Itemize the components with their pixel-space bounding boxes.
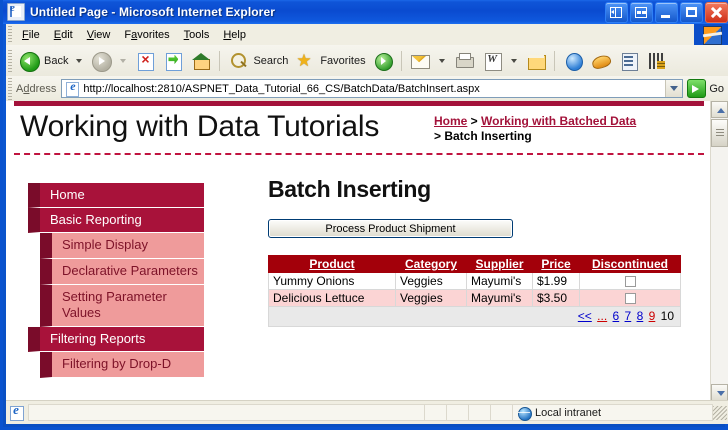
- research-button[interactable]: [615, 48, 643, 74]
- process-product-shipment-button[interactable]: Process Product Shipment: [268, 219, 513, 238]
- menu-item-file[interactable]: File: [15, 27, 47, 43]
- column-header-discontinued[interactable]: Discontinued: [580, 256, 681, 273]
- minimize-button[interactable]: [655, 2, 678, 23]
- sidebar-item-simple-display[interactable]: Simple Display: [40, 233, 204, 259]
- favorites-star-icon: [294, 50, 316, 72]
- stop-icon: [134, 50, 156, 72]
- pager-link-ellipsis[interactable]: ...: [597, 309, 607, 323]
- breadcrumb-link-home[interactable]: Home: [434, 114, 467, 128]
- breadcrumb-separator-2: >: [434, 129, 444, 143]
- mail-chevron-down-icon[interactable]: [439, 59, 445, 63]
- status-pane: [469, 404, 491, 421]
- go-button[interactable]: Go: [683, 78, 728, 99]
- research-icon: [618, 50, 640, 72]
- breadcrumb: Home > Working with Batched Data> Batch …: [434, 114, 704, 144]
- column-header-product[interactable]: Product: [269, 256, 396, 273]
- sidebar-item-basic-reporting[interactable]: Basic Reporting: [28, 208, 204, 233]
- search-button[interactable]: Search: [224, 48, 291, 74]
- print-icon: [453, 50, 475, 72]
- cell-category: Veggies: [396, 273, 467, 290]
- sidebar-item-label: Simple Display: [62, 237, 148, 252]
- sidebar-navigation: Home Basic Reporting Simple Display Decl…: [28, 183, 216, 378]
- toolbar-drag-grip[interactable]: [8, 50, 12, 72]
- table-header-row: Product Category Supplier Price Disconti…: [269, 256, 681, 273]
- sidebar-item-filtering-reports[interactable]: Filtering Reports: [28, 327, 204, 352]
- mail-button[interactable]: [406, 48, 434, 74]
- search-icon: [227, 50, 249, 72]
- browser-window: Untitled Page - Microsoft Internet Explo…: [0, 0, 728, 430]
- page-favicon-icon: [65, 81, 80, 96]
- sidebar-item-label: Setting Parameter Values: [62, 289, 167, 320]
- menu-item-help[interactable]: Help: [216, 27, 253, 43]
- main-content: Batch Inserting Process Product Shipment…: [261, 176, 691, 327]
- status-pane: [425, 404, 447, 421]
- products-grid: Product Category Supplier Price Disconti…: [268, 255, 681, 327]
- globe-icon: [517, 406, 531, 420]
- discontinued-checkbox[interactable]: [625, 293, 636, 304]
- security-zone-label: Local intranet: [535, 407, 601, 419]
- address-bar: Address http://localhost:2810/ASPNET_Dat…: [6, 76, 728, 102]
- cell-product: Yummy Onions: [269, 273, 396, 290]
- site-title: Working with Data Tutorials: [20, 110, 379, 144]
- table-row: Yummy Onions Veggies Mayumi's $1.99: [269, 273, 681, 290]
- page-icon: [7, 3, 25, 21]
- page-banner: Working with Data Tutorials Home > Worki…: [14, 106, 704, 155]
- discuss-button[interactable]: [559, 48, 587, 74]
- print-button[interactable]: [450, 48, 478, 74]
- page-viewport: Working with Data Tutorials Home > Worki…: [6, 101, 728, 401]
- table-row: Delicious Lettuce Veggies Mayumi's $3.50: [269, 290, 681, 307]
- notes-icon: [525, 50, 547, 72]
- pager-current-page: 10: [661, 309, 674, 323]
- column-header-price[interactable]: Price: [533, 256, 580, 273]
- status-pane: [491, 404, 513, 421]
- address-chevron-down-icon[interactable]: [665, 80, 682, 97]
- media-button[interactable]: [369, 48, 397, 74]
- breadcrumb-separator: >: [467, 114, 481, 128]
- sidebar-item-label: Filtering Reports: [50, 331, 145, 346]
- web-page: Working with Data Tutorials Home > Worki…: [6, 101, 711, 401]
- ie-brand-logo: [694, 24, 728, 45]
- breadcrumb-current: Batch Inserting: [444, 129, 531, 143]
- maximize-button[interactable]: [680, 2, 703, 23]
- page-title: Batch Inserting: [268, 176, 691, 203]
- pager-link-8[interactable]: 8: [637, 309, 644, 323]
- cell-price: $3.50: [533, 290, 580, 307]
- edit-word-icon: [481, 50, 503, 72]
- toolbar-separator: [219, 51, 220, 71]
- edit-button[interactable]: [478, 48, 506, 74]
- menu-item-tools[interactable]: Tools: [177, 27, 217, 43]
- forward-icon: [90, 50, 112, 72]
- resize-grip[interactable]: [713, 406, 727, 420]
- security-zone-indicator[interactable]: Local intranet: [513, 404, 713, 421]
- main-toolbar: Back Search Favorites: [6, 45, 728, 77]
- pager-link-9[interactable]: 9: [649, 309, 656, 323]
- discontinued-checkbox[interactable]: [625, 276, 636, 287]
- go-arrow-icon: [687, 79, 706, 98]
- status-page-icon: [9, 405, 24, 420]
- menu-item-favorites[interactable]: Favorites: [117, 27, 176, 43]
- back-icon: [18, 50, 40, 72]
- favorites-button[interactable]: Favorites: [291, 48, 368, 74]
- sidebar-item-label: Basic Reporting: [50, 212, 142, 227]
- pager-row: << ... 6 7 8 9 10: [269, 307, 681, 327]
- sidebar-item-setting-parameter-values[interactable]: Setting Parameter Values: [40, 285, 204, 327]
- title-bar: Untitled Page - Microsoft Internet Explo…: [3, 0, 728, 24]
- status-bar: Local intranet: [6, 400, 728, 424]
- menu-item-view[interactable]: View: [80, 27, 118, 43]
- encoding-icon: [646, 50, 668, 72]
- close-button[interactable]: [705, 2, 728, 23]
- column-header-category[interactable]: Category: [396, 256, 467, 273]
- media-icon: [372, 50, 394, 72]
- address-url-text: http://localhost:2810/ASPNET_Data_Tutori…: [83, 83, 479, 95]
- window-controls: [605, 2, 728, 23]
- sidebar-item-label: Filtering by Drop-D: [62, 356, 171, 371]
- sidebar-item-declarative-parameters[interactable]: Declarative Parameters: [40, 259, 204, 285]
- restore-window-button[interactable]: [630, 2, 653, 23]
- pager-cell: << ... 6 7 8 9 10: [269, 307, 681, 327]
- forward-history-chevron-down-icon[interactable]: [120, 59, 126, 63]
- pager-link-6[interactable]: 6: [613, 309, 620, 323]
- encoding-button[interactable]: [643, 48, 671, 74]
- address-input[interactable]: http://localhost:2810/ASPNET_Data_Tutori…: [61, 79, 683, 98]
- status-message: [28, 404, 425, 421]
- back-button[interactable]: Back: [15, 48, 71, 74]
- edit-chevron-down-icon[interactable]: [511, 59, 517, 63]
- cell-product: Delicious Lettuce: [269, 290, 396, 307]
- back-history-chevron-down-icon[interactable]: [76, 59, 82, 63]
- window-title: Untitled Page - Microsoft Internet Explo…: [30, 5, 275, 19]
- pager-link-first[interactable]: <<: [578, 309, 592, 323]
- cell-supplier: Mayumi's: [467, 290, 533, 307]
- status-pane: [447, 404, 469, 421]
- sidebar-item-filtering-by-dropdown[interactable]: Filtering by Drop-D: [40, 352, 204, 378]
- menu-drag-grip[interactable]: [8, 26, 12, 43]
- home-icon: [190, 50, 212, 72]
- scroll-up-button[interactable]: [711, 101, 728, 118]
- discuss-globe-icon: [562, 50, 584, 72]
- breadcrumb-link-parent[interactable]: Working with Batched Data: [481, 114, 636, 128]
- address-drag-grip[interactable]: [8, 78, 12, 100]
- scrollbar-thumb[interactable]: [711, 119, 728, 147]
- cell-supplier: Mayumi's: [467, 273, 533, 290]
- toolbar-separator: [554, 51, 555, 71]
- toolbar-separator: [401, 51, 402, 71]
- address-label: Address: [16, 83, 56, 95]
- restore-arrows-button[interactable]: [605, 2, 628, 23]
- sidebar-item-label: Declarative Parameters: [62, 263, 198, 278]
- sidebar-item-label: Home: [50, 187, 85, 202]
- mail-icon: [409, 50, 431, 72]
- cell-discontinued: [580, 273, 681, 290]
- messenger-button[interactable]: [587, 48, 615, 74]
- refresh-button[interactable]: [159, 48, 187, 74]
- vertical-scrollbar[interactable]: [710, 101, 728, 401]
- cell-category: Veggies: [396, 290, 467, 307]
- menu-item-edit[interactable]: Edit: [47, 27, 80, 43]
- pager-link-7[interactable]: 7: [625, 309, 632, 323]
- notes-button[interactable]: [522, 48, 550, 74]
- scroll-down-button[interactable]: [711, 384, 728, 401]
- cell-discontinued: [580, 290, 681, 307]
- sidebar-item-home[interactable]: Home: [28, 183, 204, 208]
- cell-price: $1.99: [533, 273, 580, 290]
- column-header-supplier[interactable]: Supplier: [467, 256, 533, 273]
- refresh-icon: [162, 50, 184, 72]
- home-button[interactable]: [187, 48, 215, 74]
- messenger-icon: [590, 50, 612, 72]
- forward-button[interactable]: [87, 48, 115, 74]
- menu-bar: File Edit View Favorites Tools Help: [6, 24, 728, 46]
- stop-button[interactable]: [131, 48, 159, 74]
